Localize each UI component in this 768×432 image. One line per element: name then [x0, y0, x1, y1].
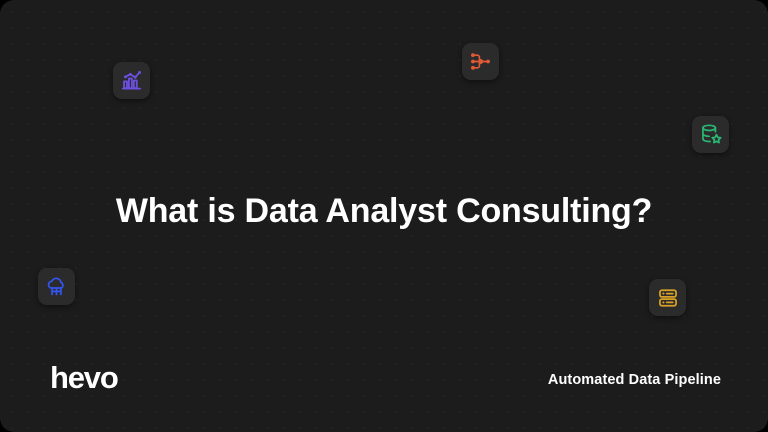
hevo-logo: hevo [50, 361, 118, 395]
node-graph-icon [469, 50, 492, 73]
database-star-icon [699, 123, 722, 146]
tile-bar-chart [113, 62, 150, 99]
server-rack-icon [657, 287, 679, 309]
tagline-text: Automated Data Pipeline [548, 371, 721, 389]
page-title: What is Data Analyst Consulting? [0, 191, 768, 231]
tile-server-rack [649, 279, 686, 316]
cloud-network-icon [45, 275, 68, 298]
tile-node-graph [462, 43, 499, 80]
bar-chart-trend-icon [120, 69, 143, 92]
tile-database-star [692, 116, 729, 153]
slide-canvas: What is Data Analyst Consulting? hevo Au… [0, 0, 768, 432]
tile-cloud-network [38, 268, 75, 305]
